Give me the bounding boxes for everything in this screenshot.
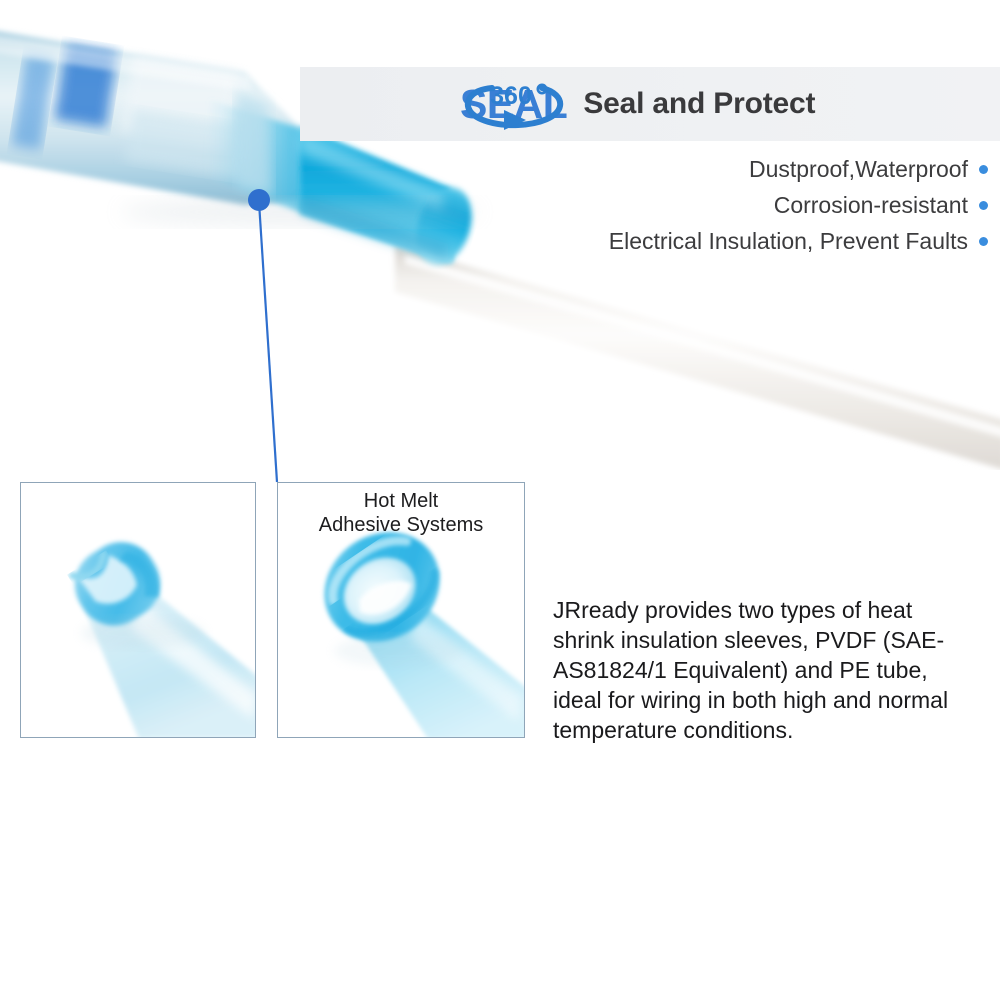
- list-item: Corrosion-resistant: [609, 190, 988, 220]
- panel-caption-line-1: Hot Melt: [277, 489, 525, 513]
- bullet-dot-icon: [979, 201, 988, 210]
- 360-rotation-arrow-icon: 360: [462, 76, 566, 134]
- sealed-tube-end-panel: [20, 482, 256, 738]
- list-item: Dustproof,Waterproof: [609, 154, 988, 184]
- seal-tagline: Seal and Protect: [583, 89, 815, 119]
- panel-caption: Hot Melt Adhesive Systems: [277, 489, 525, 538]
- feature-label: Corrosion-resistant: [774, 192, 968, 219]
- feature-label: Electrical Insulation, Prevent Faults: [609, 228, 968, 255]
- svg-text:360: 360: [490, 82, 532, 110]
- seal-banner: SEAL Seal and Protect: [300, 67, 1000, 141]
- bullet-dot-icon: [979, 165, 988, 174]
- wire-graphic: [395, 245, 1000, 470]
- bullet-dot-icon: [979, 237, 988, 246]
- product-description: JRready provides two types of heat shrin…: [553, 596, 973, 745]
- list-item: Electrical Insulation, Prevent Faults: [609, 226, 988, 256]
- feature-label: Dustproof,Waterproof: [749, 156, 968, 183]
- panel-caption-line-2: Adhesive Systems: [277, 513, 525, 537]
- feature-list: Dustproof,Waterproof Corrosion-resistant…: [609, 154, 988, 262]
- product-marketing-image: SEAL Seal and Protect 360 Dustproof,Wate…: [0, 0, 1000, 1000]
